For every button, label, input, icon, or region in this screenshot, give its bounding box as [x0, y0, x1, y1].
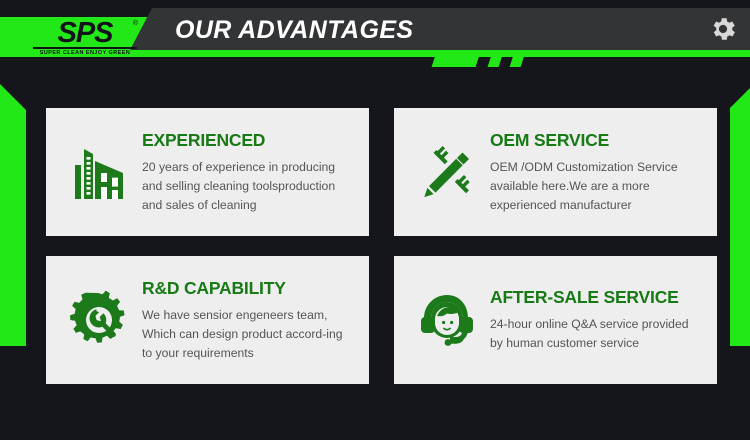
- right-accent-bar: [730, 88, 750, 346]
- card-title: R&D CAPABILITY: [142, 278, 359, 299]
- card-body: EXPERIENCED 20 years of experience in pr…: [138, 130, 359, 215]
- card-description: 20 years of experience in producing and …: [142, 158, 359, 215]
- logo-tagline: SUPER CLEAN ENJOY GREEN: [30, 50, 140, 56]
- card-description: We have sensior engeneers team, Which ca…: [142, 306, 359, 363]
- card-title: OEM SERVICE: [490, 130, 707, 151]
- advantage-card[interactable]: R&D CAPABILITY We have sensior engeneers…: [46, 256, 369, 384]
- card-body: AFTER-SALE SERVICE 24-hour online Q&A se…: [486, 287, 707, 353]
- gear-icon[interactable]: [708, 14, 738, 44]
- card-description: 24-hour online Q&A service provided by h…: [490, 315, 707, 353]
- card-description-line: 20 years of experience in producing: [142, 158, 359, 177]
- advantage-card[interactable]: AFTER-SALE SERVICE 24-hour online Q&A se…: [394, 256, 717, 384]
- advantages-banner: SPS ® SUPER CLEAN ENJOY GREEN OUR ADVANT…: [0, 0, 750, 440]
- advantage-card[interactable]: EXPERIENCED 20 years of experience in pr…: [46, 108, 369, 236]
- card-description-line: to your requirements: [142, 344, 359, 363]
- card-title: EXPERIENCED: [142, 130, 359, 151]
- card-body: OEM SERVICE OEM /ODM Customization Servi…: [486, 130, 707, 215]
- card-description-line: experienced manufacturer: [490, 196, 707, 215]
- accent-stripe-1: [432, 52, 481, 67]
- gear-wrench-icon: [60, 281, 138, 359]
- card-description-line: by human customer service: [490, 334, 707, 353]
- logo-registered-mark: ®: [133, 20, 138, 27]
- brand-logo: SPS ® SUPER CLEAN ENJOY GREEN: [30, 20, 140, 58]
- card-description-line: 24-hour online Q&A service provided: [490, 315, 707, 334]
- headset-support-icon: [408, 281, 486, 359]
- card-description-line: Which can design product accord-ing: [142, 325, 359, 344]
- card-description-line: We have sensior engeneers team,: [142, 306, 359, 325]
- left-accent-bar: [0, 84, 26, 346]
- card-description-line: and selling cleaning toolsproduction: [142, 177, 359, 196]
- card-description-line: available here.We are a more: [490, 177, 707, 196]
- advantage-card[interactable]: OEM SERVICE OEM /ODM Customization Servi…: [394, 108, 717, 236]
- card-title: AFTER-SALE SERVICE: [490, 287, 707, 308]
- card-description-line: and sales of cleaning: [142, 196, 359, 215]
- logo-wordmark: SPS: [30, 20, 140, 46]
- card-description: OEM /ODM Customization Service available…: [490, 158, 707, 215]
- card-description-line: OEM /ODM Customization Service: [490, 158, 707, 177]
- pencil-ruler-icon: [408, 133, 486, 211]
- page-title: OUR ADVANTAGES: [175, 16, 413, 45]
- card-body: R&D CAPABILITY We have sensior engeneers…: [138, 278, 359, 363]
- factory-building-icon: [60, 133, 138, 211]
